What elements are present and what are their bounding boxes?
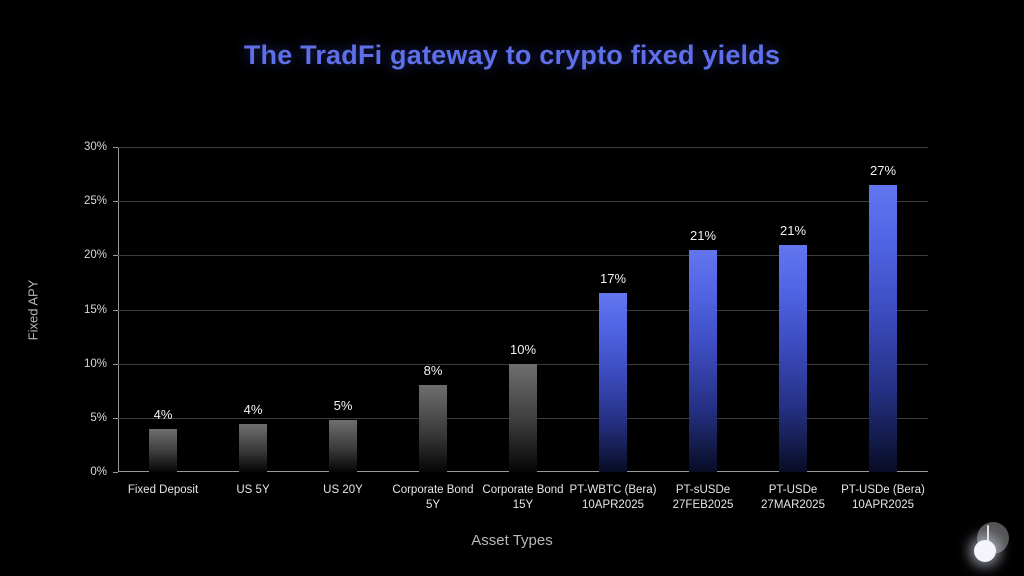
bar[interactable]: 4% [239,424,267,472]
y-axis-tick-label: 10% [84,358,107,370]
y-axis-tick [113,472,118,473]
x-axis-category-label: Corporate Bond15Y [471,483,575,513]
slide-canvas: The TradFi gateway to crypto fixed yield… [0,0,1024,576]
y-axis-tick [113,147,118,148]
x-axis-category-label: PT-sUSDe27FEB2025 [651,483,755,513]
bar-value-label: 21% [780,223,806,238]
y-axis-tick-label: 30% [84,141,107,153]
x-axis-category-label: Fixed Deposit [111,483,215,498]
y-axis-tick-label: 0% [90,466,107,478]
cursor-dot-icon [974,540,996,562]
bar[interactable]: 4% [149,429,177,472]
y-axis-title: Fixed APY [26,280,41,341]
bar[interactable]: 10% [509,364,537,472]
y-axis-tick-label: 20% [84,249,107,261]
x-axis-category-label: PT-USDe27MAR2025 [741,483,845,513]
bar[interactable]: 27% [869,185,897,472]
bar[interactable]: 17% [599,293,627,472]
bar[interactable]: 8% [419,385,447,472]
x-axis-category-label: PT-USDe (Bera)10APR2025 [831,483,935,513]
bar-value-label: 4% [244,402,263,417]
x-axis-category-label: US 20Y [291,483,395,498]
y-axis-tick [113,364,118,365]
bar[interactable]: 21% [779,245,807,473]
bar[interactable]: 21% [689,250,717,472]
bar-value-label: 8% [424,363,443,378]
bar-value-label: 10% [510,342,536,357]
chart-plot: 0%5%10%15%20%25%30% 4%4%5%8%10%17%21%21%… [118,147,928,472]
bar-value-label: 27% [870,163,896,178]
bar-value-label: 4% [154,407,173,422]
y-axis-tick-label: 5% [90,412,107,424]
y-axis-tick [113,255,118,256]
y-axis-tick [113,310,118,311]
bar-value-label: 5% [334,398,353,413]
bar-value-label: 17% [600,271,626,286]
x-axis-category-label: Corporate Bond5Y [381,483,485,513]
y-axis-tick [113,201,118,202]
cursor-watermark[interactable] [963,516,1015,568]
x-axis-category-label: PT-WBTC (Bera)10APR2025 [561,483,665,513]
y-axis-tick-label: 25% [84,195,107,207]
page-title: The TradFi gateway to crypto fixed yield… [0,40,1024,71]
y-axis-tick-label: 15% [84,304,107,316]
x-axis-title: Asset Types [0,532,1024,549]
y-axis-tick [113,418,118,419]
gridline [118,147,928,148]
gridline [118,201,928,202]
x-axis-category-label: US 5Y [201,483,305,498]
bar[interactable]: 5% [329,420,357,472]
bar-value-label: 21% [690,228,716,243]
